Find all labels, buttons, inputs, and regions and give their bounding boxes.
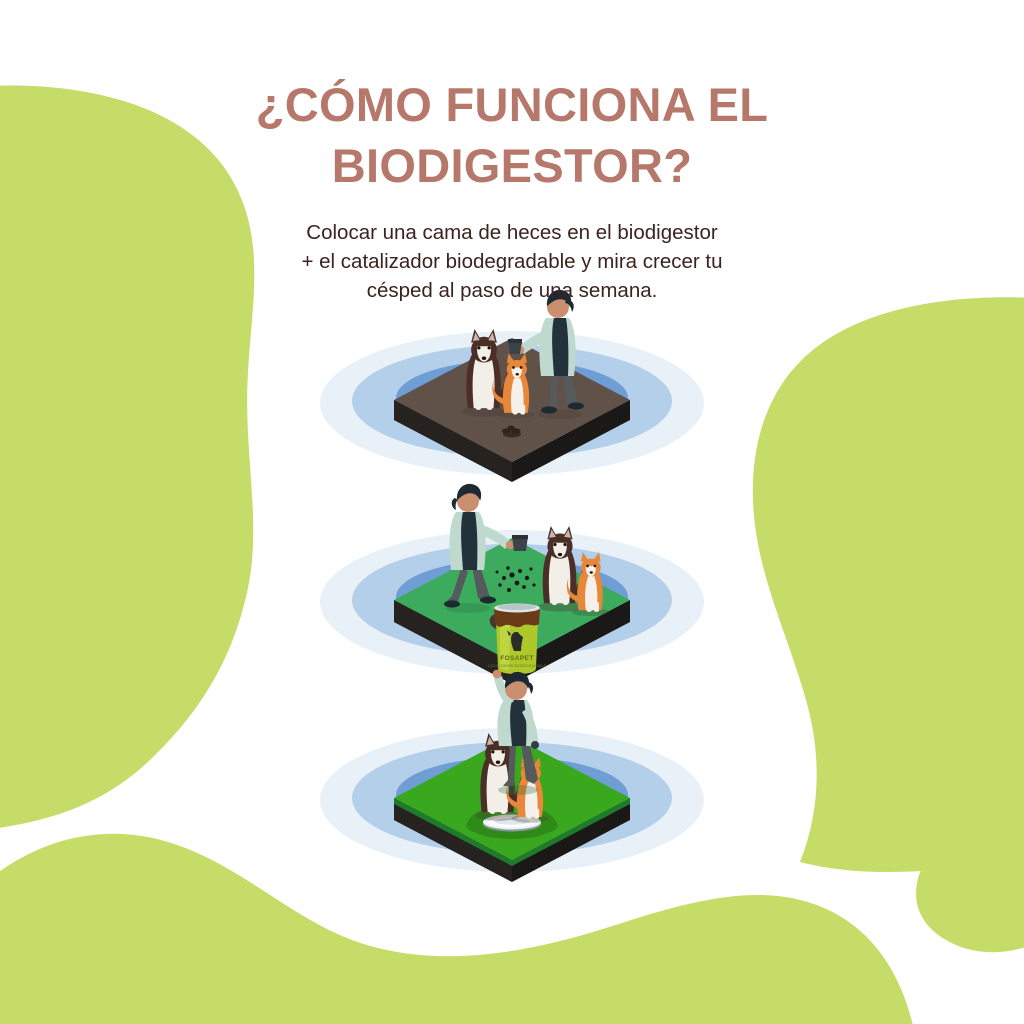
page-title: ¿CÓMO FUNCIONA EL BIODIGESTOR? <box>0 0 1024 196</box>
page-title-line-2: BIODIGESTOR? <box>0 135 1024 196</box>
header-text-block: ¿CÓMO FUNCIONA EL BIODIGESTOR? Colocar u… <box>0 0 1024 306</box>
page-subtitle-line-3: césped al paso de una semana. <box>0 276 1024 305</box>
blob-right <box>753 297 1024 872</box>
blob-bottom <box>0 834 920 1024</box>
page-subtitle-line-1: Colocar una cama de heces en el biodiges… <box>0 218 1024 247</box>
infographic-canvas: ¿CÓMO FUNCIONA EL BIODIGESTOR? Colocar u… <box>0 0 1024 1024</box>
page-subtitle-line-2: + el catalizador biodegradable y mira cr… <box>0 247 1024 276</box>
page-title-line-1: ¿CÓMO FUNCIONA EL <box>0 74 1024 135</box>
page-subtitle: Colocar una cama de heces en el biodiges… <box>0 196 1024 305</box>
